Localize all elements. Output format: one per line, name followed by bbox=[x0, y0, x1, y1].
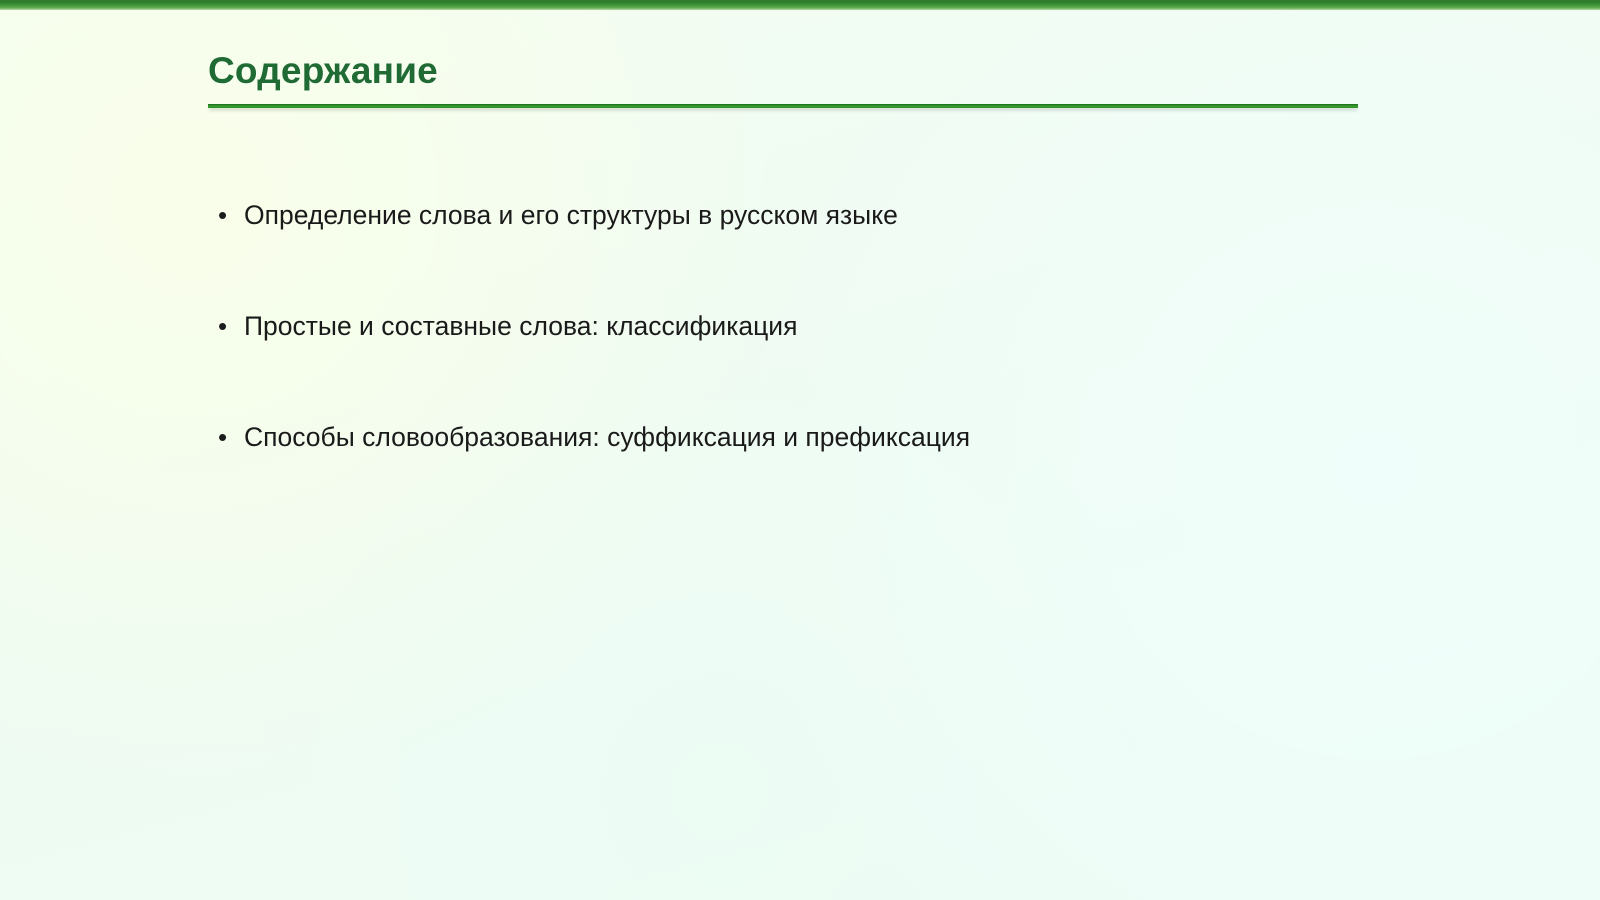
bullet-point-icon: • bbox=[218, 307, 244, 345]
list-item-label: Простые и составные слова: классификация bbox=[244, 307, 1398, 345]
bullet-point-icon: • bbox=[218, 418, 244, 456]
list-item: • Способы словообразования: суффиксация … bbox=[218, 418, 1398, 529]
page-title: Содержание bbox=[208, 48, 1358, 94]
list-item: • Простые и составные слова: классификац… bbox=[218, 307, 1398, 418]
top-accent-band bbox=[0, 0, 1600, 10]
list-item-label: Способы словообразования: суффиксация и … bbox=[244, 418, 1398, 456]
title-block: Содержание bbox=[208, 48, 1358, 94]
list-item-label: Определение слова и его структуры в русс… bbox=[244, 196, 1398, 234]
list-item: • Определение слова и его структуры в ру… bbox=[218, 196, 1398, 307]
contents-bullet-list: • Определение слова и его структуры в ру… bbox=[218, 196, 1398, 529]
title-underline-rule bbox=[208, 104, 1358, 108]
presentation-slide: Содержание • Определение слова и его стр… bbox=[0, 0, 1600, 900]
bullet-point-icon: • bbox=[218, 196, 244, 234]
